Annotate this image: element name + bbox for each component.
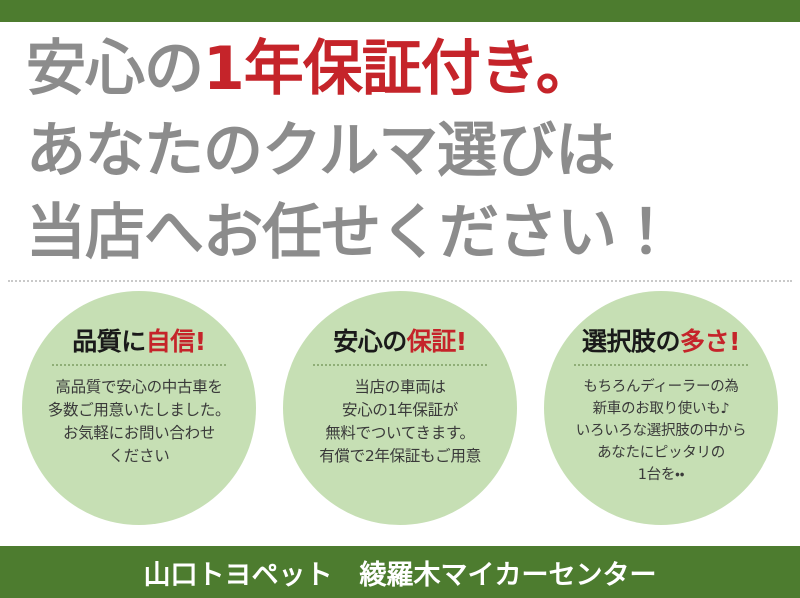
feature-body-line: 1台を・・ <box>556 464 766 486</box>
features-row: 品質に自信! 高品質で安心の中古車を 多数ご用意いたしました。 お気軽にお問い合… <box>0 283 800 546</box>
advertisement-banner: 安心の1年保証付き。 あなたのクルマ選びは 当店へお任せください！ 品質に自信!… <box>0 0 800 598</box>
feature-heading-warranty-red: 保証! <box>407 327 467 356</box>
headline-line-2: あなたのクルマ選びは <box>0 110 800 192</box>
headline-line-1-red: 1年保証付き。 <box>203 34 595 104</box>
feature-circle-quality: 品質に自信! 高品質で安心の中古車を 多数ご用意いたしました。 お気軽にお問い合… <box>22 291 256 525</box>
feature-heading-quality-red: 自信! <box>146 327 206 356</box>
feature-body-line: ください <box>34 445 244 468</box>
headline-line-1: 安心の1年保証付き。 <box>0 28 800 110</box>
top-accent-bar <box>0 0 800 22</box>
feature-body-line: 当店の車両は <box>295 376 505 399</box>
feature-body-line: あなたにピッタリの <box>556 442 766 464</box>
feature-heading-rule <box>313 364 487 366</box>
feature-heading-rule <box>52 364 226 366</box>
feature-heading-warranty: 安心の保証! <box>295 327 505 357</box>
feature-body-line: 新車のお取り使いも♪ <box>556 398 766 420</box>
feature-circle-warranty: 安心の保証! 当店の車両は 安心の1年保証が 無料でついてきます。 有償で2年保… <box>283 291 517 525</box>
feature-heading-quality: 品質に自信! <box>34 327 244 357</box>
feature-body-quality: 高品質で安心の中古車を 多数ご用意いたしました。 お気軽にお問い合わせ ください <box>34 376 244 468</box>
feature-body-warranty: 当店の車両は 安心の1年保証が 無料でついてきます。 有償で2年保証もご用意 <box>295 376 505 468</box>
feature-body-line: もちろんディーラーの為 <box>556 376 766 398</box>
footer-bar: 山口トヨペット 綾羅木マイカーセンター <box>0 546 800 598</box>
feature-body-line: 多数ご用意いたしました。 <box>34 399 244 422</box>
headline-line-3: 当店へお任せください！ <box>0 192 800 274</box>
feature-heading-selection-red: 多さ! <box>680 327 740 356</box>
store-name: 山口トヨペット 綾羅木マイカーセンター <box>144 553 657 592</box>
feature-body-selection: もちろんディーラーの為 新車のお取り使いも♪ いろいろな選択肢の中から あなたに… <box>556 376 766 486</box>
feature-body-line: 高品質で安心の中古車を <box>34 376 244 399</box>
feature-body-line: 有償で2年保証もご用意 <box>295 445 505 468</box>
feature-body-line: いろいろな選択肢の中から <box>556 420 766 442</box>
feature-heading-selection: 選択肢の多さ! <box>556 327 766 357</box>
headline-line-1-gray: 安心の <box>26 34 203 104</box>
feature-body-line: 安心の1年保証が <box>295 399 505 422</box>
feature-body-line: お気軽にお問い合わせ <box>34 422 244 445</box>
feature-heading-warranty-dark: 安心の <box>333 327 407 356</box>
feature-circle-selection: 選択肢の多さ! もちろんディーラーの為 新車のお取り使いも♪ いろいろな選択肢の… <box>544 291 778 525</box>
headline-block: 安心の1年保証付き。 あなたのクルマ選びは 当店へお任せください！ <box>0 22 800 274</box>
feature-body-line: 無料でついてきます。 <box>295 422 505 445</box>
feature-heading-selection-dark: 選択肢の <box>582 327 680 356</box>
feature-heading-quality-dark: 品質に <box>72 327 146 356</box>
feature-heading-rule <box>574 364 748 366</box>
